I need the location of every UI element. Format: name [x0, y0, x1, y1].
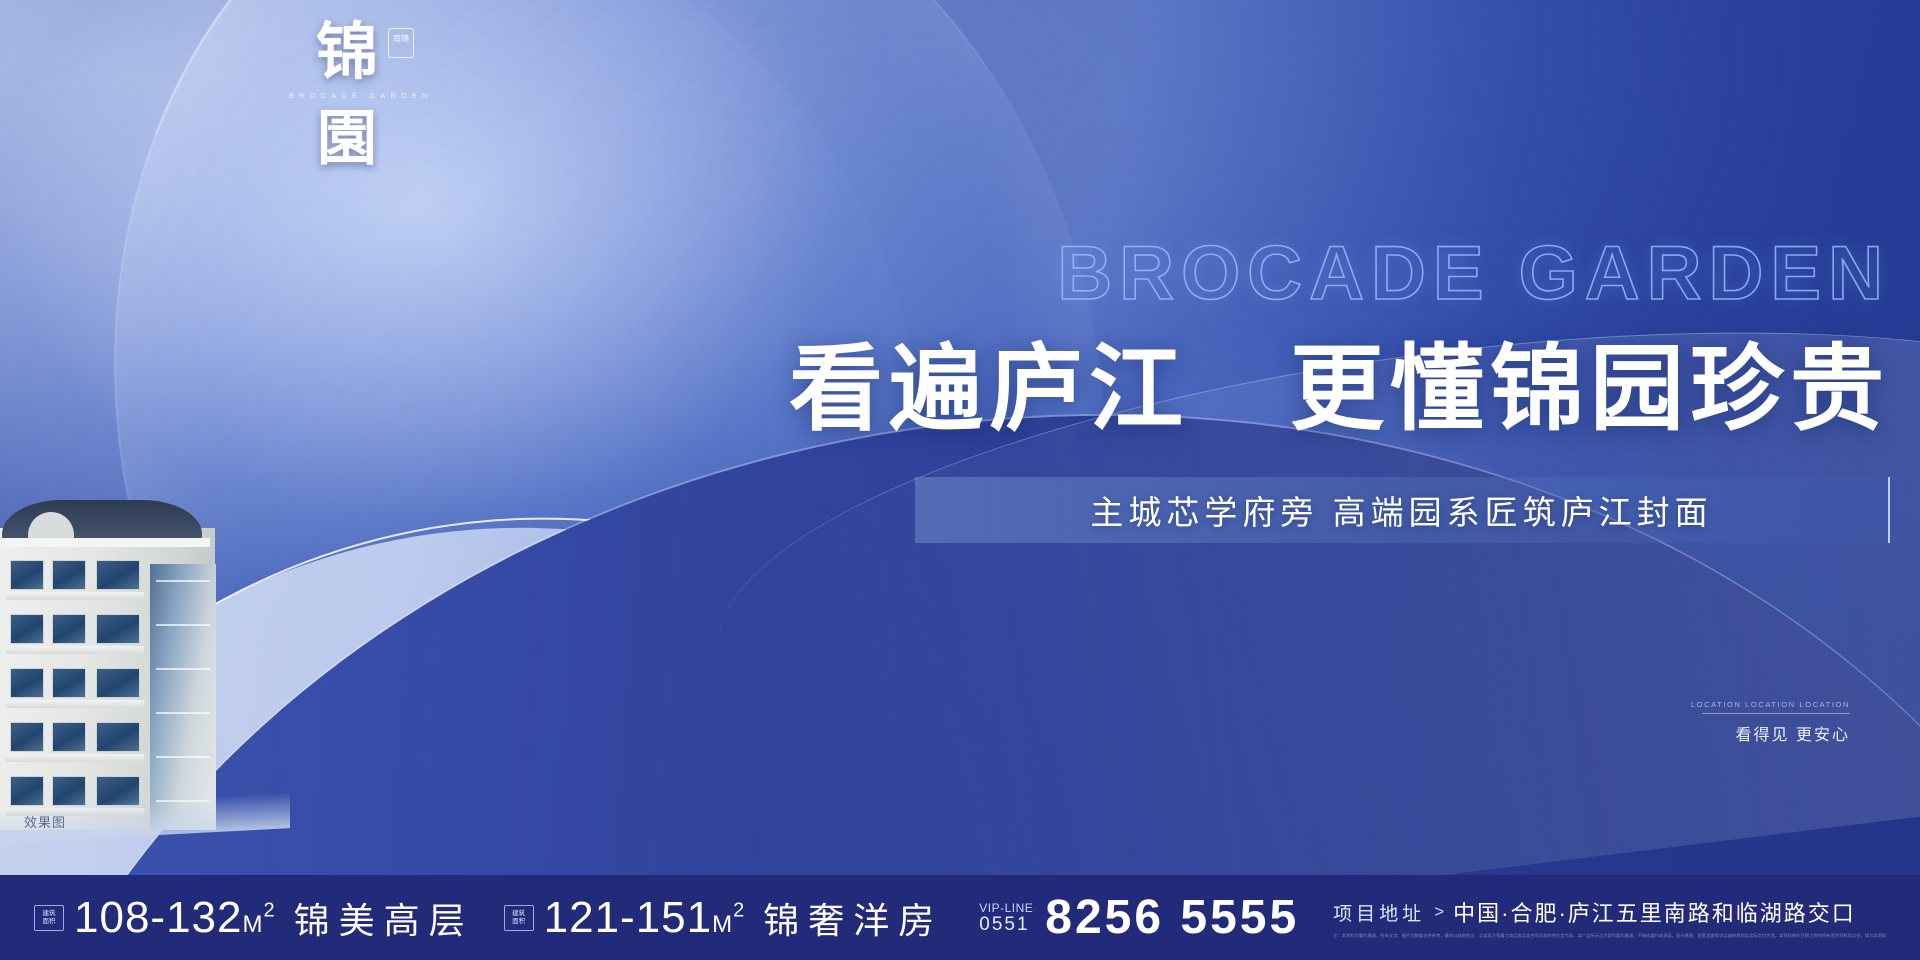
location-tagline-chinese: 看得见 更安心: [1590, 721, 1850, 745]
render-disclaimer-note: 效果图: [24, 812, 66, 831]
hero-subtitle-bar: 主城芯学府旁 高端园系匠筑庐江封面: [915, 477, 1890, 543]
poster-canvas: 锦 BROCADE GARDEN 園 南锦 BROCADE GARDEN 看遍庐…: [0, 0, 1920, 960]
logo-seal-icon: 南锦: [388, 28, 414, 58]
product-name-1: 锦美高层: [294, 892, 474, 944]
building-window: [52, 776, 86, 806]
area-badge-2-line1: 建筑: [512, 910, 525, 918]
hero-english-title: BROCADE GARDEN: [600, 236, 1890, 312]
building-window: [52, 722, 86, 752]
hero-text-block: BROCADE GARDEN 看遍庐江 更懂锦园珍贵 主城芯学府旁 高端园系匠筑…: [600, 236, 1890, 543]
building-window: [10, 668, 44, 698]
location-tagline-english: LOCATION LOCATION LOCATION: [1590, 700, 1850, 709]
vip-line-label: VIP-LINE: [979, 901, 1033, 915]
building-window: [96, 560, 140, 590]
phone-number[interactable]: 8256 5555: [1045, 890, 1299, 945]
brand-logo[interactable]: 锦 BROCADE GARDEN 園 南锦: [292, 22, 404, 169]
building-rendering-image: [0, 490, 270, 830]
area-unit-1-sup: 2: [263, 899, 275, 921]
building-window: [52, 668, 86, 698]
building-floor-row: [0, 606, 215, 658]
logo-char-bottom: 園: [292, 109, 404, 169]
location-tagline-rule: [1702, 713, 1850, 714]
hero-headline: 看遍庐江 更懂锦园珍贵: [600, 338, 1890, 443]
building-window: [10, 776, 44, 806]
area-value-2: 121-151M2: [544, 893, 746, 943]
area-range-1: 108-132: [74, 893, 242, 942]
building-window: [10, 614, 44, 644]
legal-disclaimer: 注：本资料为要约邀请，所有文字、图片及数据仅供参考，最终以政府批文、买卖双方签署…: [1333, 933, 1886, 939]
building-balcony: [6, 646, 144, 654]
building-balcony: [6, 592, 144, 600]
vip-line-block: VIP-LINE 0551: [979, 901, 1033, 935]
area-badge-1-line1: 建筑: [43, 910, 56, 918]
area-badge-2-line2: 面积: [512, 918, 525, 926]
building-window: [96, 722, 140, 752]
building-balcony: [6, 754, 144, 762]
address-value: 中国·合肥·庐江五里南路和临湖路交口: [1453, 896, 1856, 928]
building-roof: [2, 500, 202, 542]
hero-subtitle-text: 主城芯学府旁 高端园系匠筑庐江封面: [1090, 486, 1712, 534]
area-unit-1: M: [242, 911, 263, 938]
building-floor-row: [0, 660, 215, 712]
vip-line-area-code: 0551: [979, 915, 1033, 935]
hero-headline-part1: 看遍庐江: [789, 338, 1189, 442]
building-window: [10, 722, 44, 752]
building-window: [52, 560, 86, 590]
area-badge-1-line2: 面积: [43, 918, 56, 926]
address-label: 项目地址: [1333, 899, 1425, 926]
building-floor-row: [0, 552, 215, 604]
area-value-1: 108-132M2: [74, 893, 276, 943]
building-cornice: [0, 538, 210, 547]
area-badge-2: 建筑 面积: [504, 905, 534, 931]
building-window: [96, 668, 140, 698]
building-window: [10, 560, 44, 590]
building-balcony: [6, 700, 144, 708]
address-block: 项目地址 > 中国·合肥·庐江五里南路和临湖路交口 注：本资料为要约邀请，所有文…: [1333, 896, 1886, 939]
address-line: 项目地址 > 中国·合肥·庐江五里南路和临湖路交口: [1333, 896, 1886, 928]
area-unit-2-sup: 2: [733, 899, 745, 921]
footer-info-bar: 建筑 面积 108-132M2 锦美高层 建筑 面积 121-151M2 锦奢洋…: [0, 875, 1920, 960]
area-range-2: 121-151: [544, 893, 712, 942]
building-floor-row: [0, 714, 215, 766]
area-badge-1: 建筑 面积: [34, 905, 64, 931]
product-name-2: 锦奢洋房: [763, 892, 943, 944]
building-window: [52, 614, 86, 644]
location-tagline: LOCATION LOCATION LOCATION 看得见 更安心: [1590, 700, 1850, 745]
building-window: [96, 614, 140, 644]
logo-english: BROCADE GARDEN: [289, 93, 404, 100]
area-unit-2: M: [712, 911, 733, 938]
chevron-right-icon: >: [1434, 902, 1444, 922]
hero-headline-part2: 更懂锦园珍贵: [1290, 338, 1890, 442]
